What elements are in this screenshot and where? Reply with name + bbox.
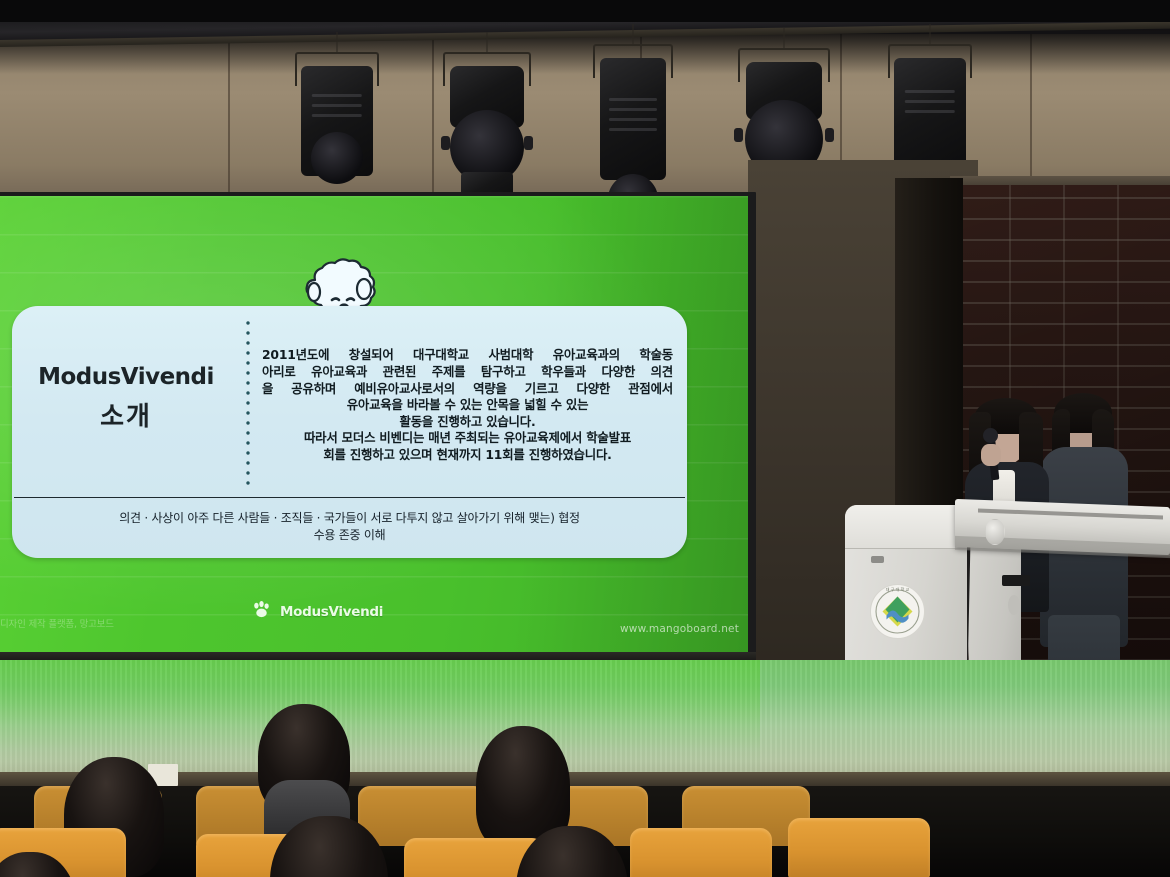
slide-body-line: 활동을 진행하고 있습니다. [262,414,673,431]
daegu-university-emblem: 대 구 대 학 교 [869,583,926,640]
slide-body-line: 따라서 모더스 비벤디는 매년 주최되는 유아교육제에서 학술발표 [262,430,673,447]
slide-body-line: 2011년도에 창설되어 대구대학교 사범대학 유아교육과의 학술동 [262,347,673,364]
slide-watermark-left: 디자인 제작 플랫폼, 망고보드 [0,616,114,630]
audience-seat [358,786,486,846]
slide-brand-english: ModusVivendi [38,364,214,390]
slide-body-line: 을 공유하며 예비유아교사로서의 역량을 기르고 다양한 관점에서 [262,381,673,398]
slide-footer-line: 수용 존중 이해 [314,527,386,544]
slide-body-block: 2011년도에 창설되어 대구대학교 사범대학 유아교육과의 학술동 아리로 유… [240,306,687,497]
slide-body-line: 유아교육을 바라볼 수 있는 안목을 넓힐 수 있는 [262,397,673,414]
slide-watermark: www.mangoboard.net [620,623,739,635]
slide-body-line: 아리로 유아교육과 관련된 주제를 탐구하고 학우들과 다양한 의견 [262,364,673,381]
podium-lid [845,505,967,549]
audience-seat [788,818,930,877]
dotted-divider [246,318,250,488]
auditorium-photo-scene: ModusVivendi 소개 2011년도에 창설되어 대구대학교 사범대학 … [0,0,1170,877]
podium-handle[interactable] [1008,595,1020,615]
stage-spotlight-icon [295,32,379,192]
audience-seat [630,828,772,877]
podium-latch[interactable] [871,556,884,563]
podium-control-panel[interactable] [1002,575,1030,586]
paw-print-icon [252,601,271,622]
podium-knob[interactable] [985,519,1005,545]
slide-footer-line: 의견 · 사상이 아주 다른 사람들 · 조직들 · 국가들이 서로 다투지 않… [119,510,580,527]
stage-spotlight-icon [593,24,673,204]
slide-content-card: ModusVivendi 소개 2011년도에 창설되어 대구대학교 사범대학 … [12,306,687,558]
slide-logo-label: ModusVivendi [280,604,383,620]
svg-text:대 구 대 학 교: 대 구 대 학 교 [886,586,910,592]
slide-title-block: ModusVivendi 소개 [12,306,240,497]
slide-card-main: ModusVivendi 소개 2011년도에 창설되어 대구대학교 사범대학 … [12,306,687,497]
slide-footer-logo: ModusVivendi [252,601,383,622]
slide-body-line: 회를 진행하고 있으며 현재까지 11회를 진행하였습니다. [262,447,673,464]
slide-brand-korean: 소개 [100,396,152,433]
slide-definition-block: 의견 · 사상이 아주 다른 사람들 · 조직들 · 국가들이 서로 다투지 않… [12,498,687,558]
stage-spotlight-icon [443,32,531,202]
ceiling-void [0,0,1170,22]
